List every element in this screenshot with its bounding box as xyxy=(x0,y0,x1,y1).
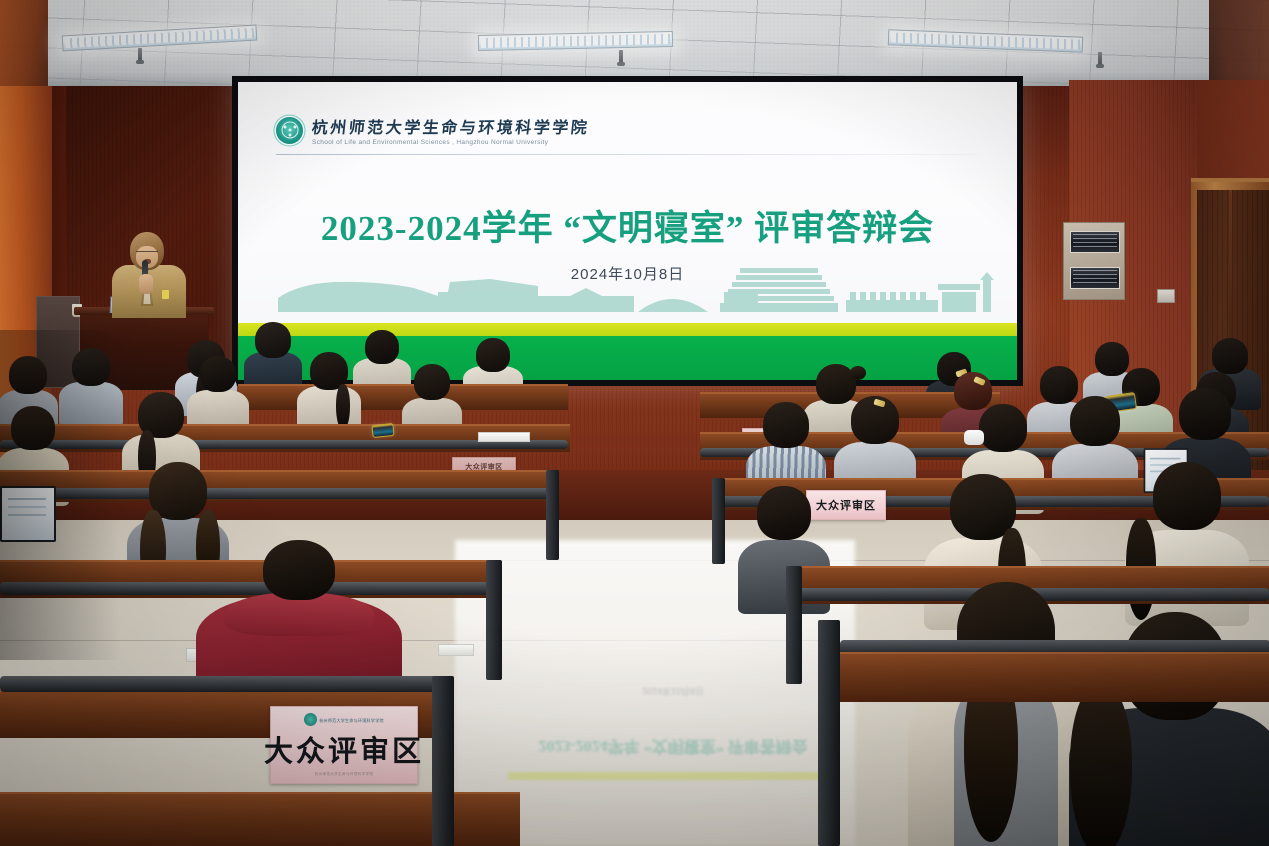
audience-head xyxy=(200,356,236,392)
reflection-date: 2024年10月8日 xyxy=(508,685,838,698)
left-shadow-gradient xyxy=(0,330,120,660)
university-seal-icon xyxy=(276,117,303,144)
bench-rail xyxy=(0,676,450,692)
slide-header-divider xyxy=(276,154,977,155)
bench-post xyxy=(486,560,502,680)
bench-post xyxy=(546,470,559,560)
air-vent-grille-2 xyxy=(1070,267,1120,289)
tent-card-foreground: 杭州师范大学生命与环境科学学院 大众评审区 杭州师范大学生命与环境科学学院 xyxy=(270,706,418,784)
face-mask-icon xyxy=(964,430,984,445)
air-vent-grille-1 xyxy=(1070,231,1120,253)
slide-header: 杭州师范大学生命与环境科学学院 School of Life and Envir… xyxy=(276,108,977,152)
glasses-icon xyxy=(136,251,158,256)
audience-head xyxy=(365,330,399,364)
tent-card-logo-text: 杭州师范大学生命与环境科学学院 xyxy=(319,718,384,724)
tent-card-label: 大众评审区 xyxy=(264,728,424,770)
tent-card-footnote: 杭州师范大学生命与环境科学学院 xyxy=(315,772,374,777)
audience-head xyxy=(1070,396,1120,446)
long-hair xyxy=(1070,684,1132,846)
reflection-title: 2023-2024学年 “文明寝室” 评审答辩会 xyxy=(508,736,838,760)
ceiling-edge-right xyxy=(1209,0,1269,92)
ceiling-edge-left xyxy=(0,0,48,92)
audience-head xyxy=(979,404,1027,452)
tent-card-logo-row: 杭州师范大学生命与环境科学学院 xyxy=(304,713,384,728)
audience-head xyxy=(263,540,335,600)
air-vent-panel xyxy=(1063,222,1125,300)
presenter-badge xyxy=(162,290,169,299)
audience-member xyxy=(246,322,300,388)
bench-post xyxy=(818,620,840,846)
audience-head xyxy=(1179,388,1231,440)
presenter-hand xyxy=(139,274,153,294)
smartphone-icon[interactable] xyxy=(371,423,394,438)
slide-band-lime xyxy=(238,323,1017,336)
audience-member xyxy=(356,330,408,392)
paper-sheet xyxy=(478,432,530,442)
audience-head xyxy=(476,338,510,372)
hair-bun xyxy=(850,366,866,380)
audience-head xyxy=(255,322,291,358)
slide-logo-cn: 杭州师范大学生命与环境科学学院 xyxy=(311,114,591,138)
bench-post xyxy=(432,676,454,846)
hangzhou-skyline-icon xyxy=(238,262,1017,324)
projection-screen-frame: 杭州师范大学生命与环境科学学院 School of Life and Envir… xyxy=(232,76,1023,386)
audience-head xyxy=(1212,338,1248,374)
desk-row-front-right xyxy=(840,652,1269,702)
reflection-band xyxy=(508,772,838,780)
wall-outlet-plate xyxy=(1157,289,1175,303)
paper-sheet xyxy=(438,644,474,656)
sprinkler-icon-1 xyxy=(138,48,142,61)
audience-member xyxy=(190,356,246,430)
slide-logo-en: School of Life and Environmental Science… xyxy=(312,139,590,146)
audience-head xyxy=(1153,462,1221,530)
sprinkler-icon-2 xyxy=(619,50,623,63)
audience-member xyxy=(300,352,358,428)
audience-member xyxy=(920,582,1092,846)
bench-post xyxy=(712,478,725,564)
audience-head xyxy=(763,402,809,448)
bench-post xyxy=(786,566,802,684)
audience-head xyxy=(414,364,450,400)
slide-logo-text: 杭州师范大学生命与环境科学学院 School of Life and Envir… xyxy=(312,114,590,146)
sprinkler-icon-3 xyxy=(1098,52,1102,65)
audience-head xyxy=(757,486,811,540)
lecture-hall-photo: 杭州师范大学生命与环境科学学院 School of Life and Envir… xyxy=(0,0,1269,846)
university-seal-icon xyxy=(304,713,317,726)
projection-screen: 杭州师范大学生命与环境科学学院 School of Life and Envir… xyxy=(238,82,1017,380)
presenter xyxy=(108,232,190,318)
slide-title: 2023-2024学年 “文明寝室” 评审答辩会 xyxy=(238,200,1017,251)
